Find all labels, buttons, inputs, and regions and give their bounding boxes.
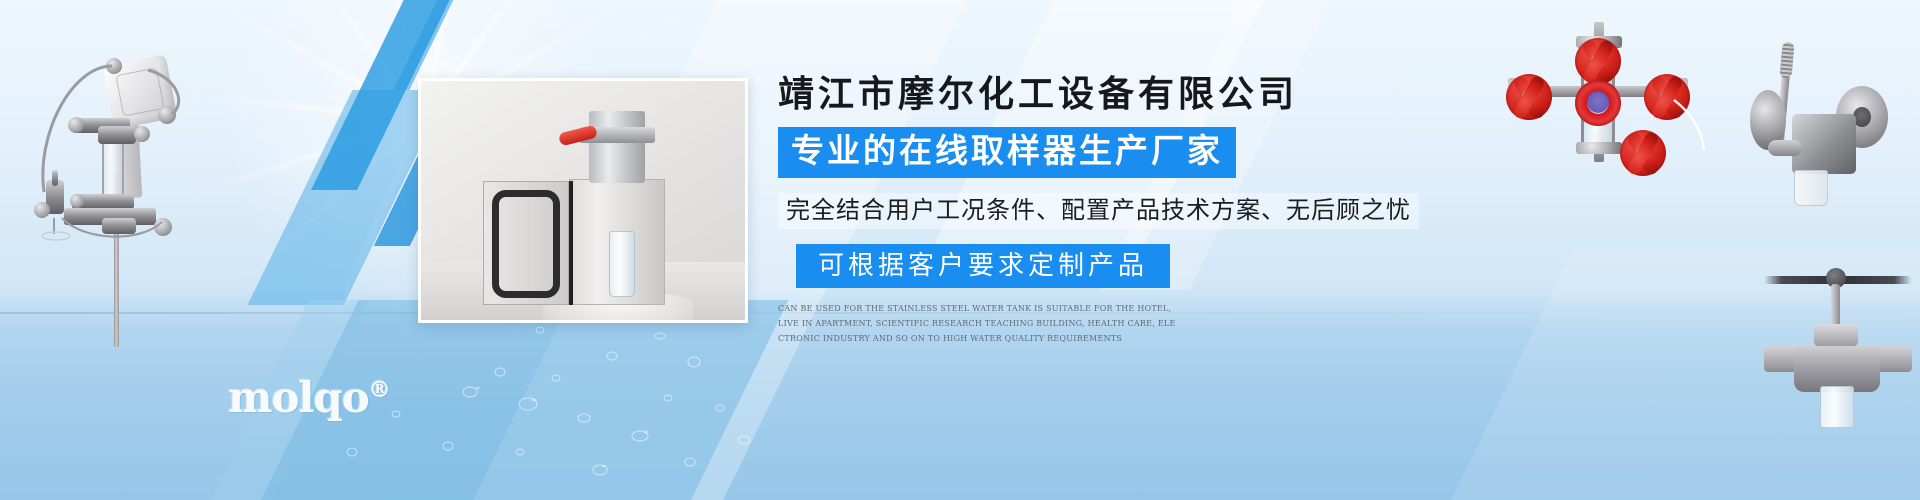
english-description: CAN BE USED FOR THE STAINLESS STEEL WATE… bbox=[778, 302, 1178, 346]
banner-text-block: 靖江市摩尔化工设备有限公司 专业的在线取样器生产厂家 完全结合用户工况条件、配置… bbox=[778, 74, 1418, 347]
product-photo-sampling-cabinet bbox=[418, 78, 748, 323]
sampling-valve-glass-receiver bbox=[1820, 386, 1854, 428]
product-red-handwheel-valve-cross bbox=[1478, 22, 1728, 162]
cross-outlet-tube bbox=[1478, 22, 1728, 162]
product-handwheel-sampling-valve bbox=[1758, 228, 1920, 403]
cabinet-open-door bbox=[483, 181, 569, 305]
lever-valve-nozzle bbox=[1768, 140, 1802, 156]
watermark-text: molqo bbox=[228, 373, 369, 422]
product-banner: 靖江市摩尔化工设备有限公司 专业的在线取样器生产厂家 完全结合用户工况条件、配置… bbox=[0, 0, 1920, 500]
lever-valve-sample-cup bbox=[1794, 170, 1828, 206]
subheadline: 完全结合用户工况条件、配置产品技术方案、无后顾之忧 bbox=[778, 193, 1419, 229]
brand-watermark: molqo® bbox=[228, 373, 391, 422]
product-lever-flanged-valve bbox=[1720, 28, 1920, 233]
company-name: 靖江市摩尔化工设备有限公司 bbox=[778, 74, 1418, 115]
lever-valve-body bbox=[1792, 114, 1856, 174]
custom-product-badge: 可根据客户要求定制产品 bbox=[796, 244, 1170, 289]
sampler-tubing bbox=[10, 22, 200, 302]
product-pole-mounted-sampler bbox=[10, 22, 200, 302]
cabinet-sample-bottle bbox=[609, 231, 635, 297]
sampling-valve-bonnet bbox=[1814, 324, 1858, 346]
registered-mark-icon: ® bbox=[369, 377, 391, 403]
cabinet-valve-head bbox=[589, 111, 645, 183]
headline-badge: 专业的在线取样器生产厂家 bbox=[778, 127, 1236, 178]
